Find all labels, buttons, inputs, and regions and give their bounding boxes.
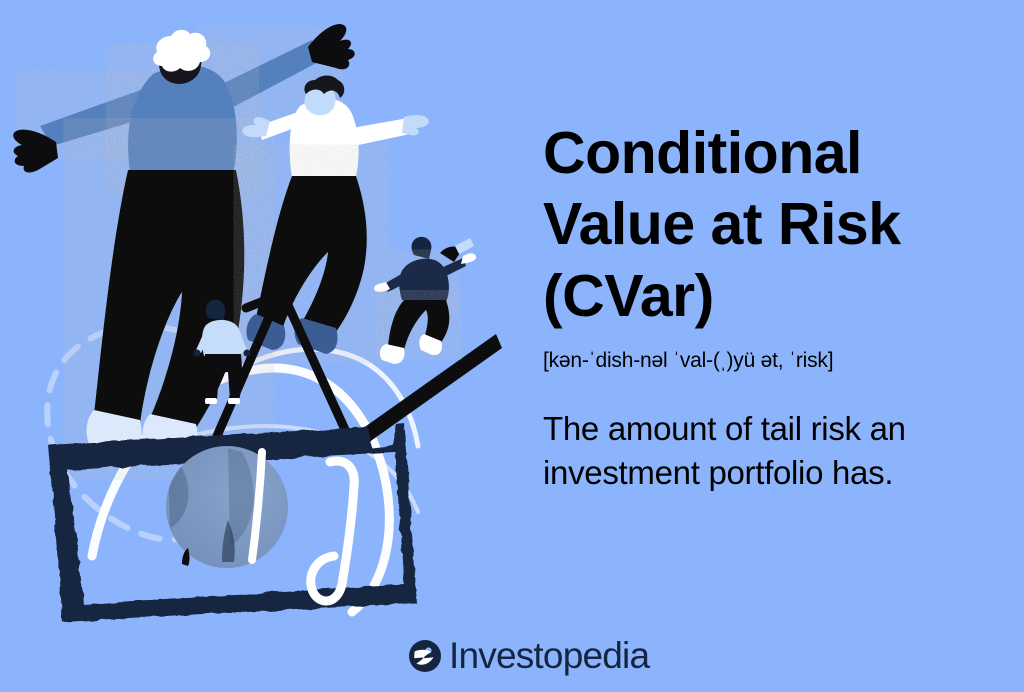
investopedia-wordmark: Investopedia bbox=[449, 637, 649, 674]
coin-circle bbox=[166, 446, 288, 568]
pronunciation-text: [kən-ˈdish-nəl ˈval-(ˌ)yü ət, ˈrisk] bbox=[543, 348, 993, 373]
investopedia-logo-mark-icon bbox=[408, 639, 442, 673]
definition-text: The amount of tail risk an investment po… bbox=[543, 407, 993, 494]
investopedia-definition-card: Conditional Value at Risk (CVar) [kən-ˈd… bbox=[0, 0, 1024, 692]
investopedia-logo[interactable]: Investopedia bbox=[408, 637, 649, 674]
text-panel: Conditional Value at Risk (CVar) [kən-ˈd… bbox=[543, 118, 993, 494]
page-title: Conditional Value at Risk (CVar) bbox=[543, 118, 993, 332]
